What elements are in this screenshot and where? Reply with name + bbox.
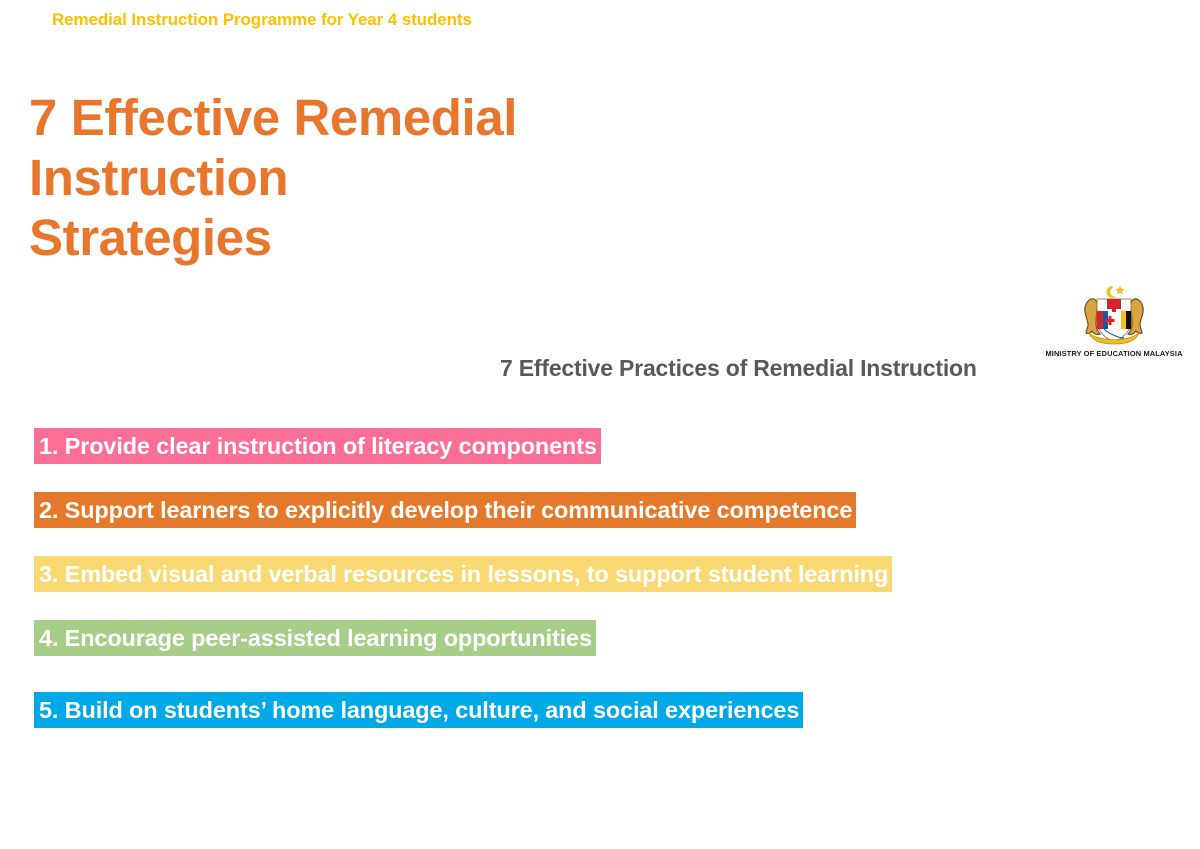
page-title-line-2: Instruction <box>29 148 589 208</box>
practice-item-3-text: 3. Embed visual and verbal resources in … <box>34 556 892 592</box>
page-title-line-3: Strategies <box>29 208 589 268</box>
page-title: 7 Effective Remedial Instruction Strateg… <box>29 88 589 268</box>
practice-item-5-text: 5. Build on students’ home language, cul… <box>34 692 803 728</box>
list-item: 3. Embed visual and verbal resources in … <box>34 555 1174 593</box>
list-item: 5. Build on students’ home language, cul… <box>34 683 846 738</box>
page-title-line-1: 7 Effective Remedial <box>29 88 589 148</box>
list-item: 1. Provide clear instruction of literacy… <box>34 427 1174 465</box>
list-item: 4. Encourage peer-assisted learning oppo… <box>34 619 1174 657</box>
ministry-logo-caption: MINISTRY OF EDUCATION MALAYSIA <box>1036 349 1192 358</box>
effective-practices-list: 1. Provide clear instruction of literacy… <box>34 427 1174 738</box>
malaysia-coat-of-arms-icon <box>1036 283 1192 347</box>
slide-canvas: Remedial Instruction Programme for Year … <box>0 0 1200 849</box>
ministry-logo-block: MINISTRY OF EDUCATION MALAYSIA <box>1036 283 1192 358</box>
practice-item-4-text: 4. Encourage peer-assisted learning oppo… <box>34 620 596 656</box>
practice-item-1-text: 1. Provide clear instruction of literacy… <box>34 428 601 464</box>
slide-kicker-heading: Remedial Instruction Programme for Year … <box>52 10 472 30</box>
list-item: 2. Support learners to explicitly develo… <box>34 491 1174 529</box>
section-subtitle: 7 Effective Practices of Remedial Instru… <box>500 355 977 382</box>
practice-item-2-text: 2. Support learners to explicitly develo… <box>34 492 856 528</box>
